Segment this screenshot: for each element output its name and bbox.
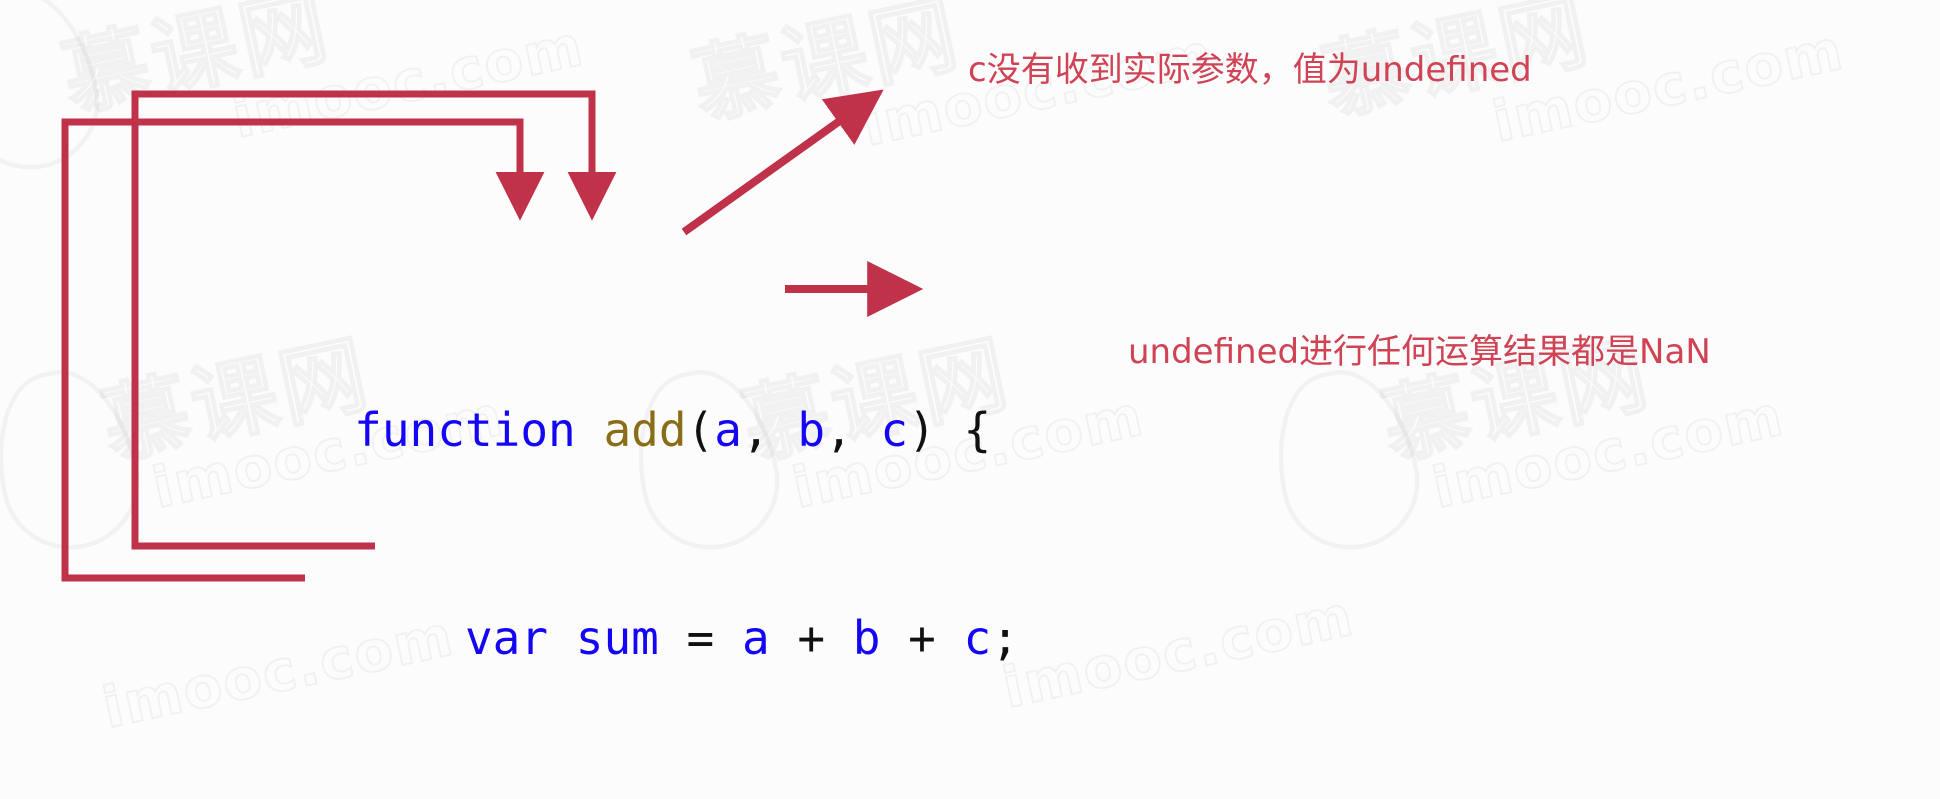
code-token-plus: + — [880, 611, 963, 665]
watermark-brand: 慕课网 — [680, 0, 970, 142]
code-token-space — [548, 611, 576, 665]
code-token-brace-open: ) { — [908, 403, 991, 457]
watermark-site: imooc.com — [1427, 384, 1790, 522]
code-token-assign: = — [659, 611, 742, 665]
watermark-flame-icon — [0, 358, 152, 563]
code-token-plus: + — [770, 611, 853, 665]
code-block: function add(a, b, c) { var sum = a + b … — [188, 196, 1366, 799]
watermark-site: imooc.com — [1487, 18, 1850, 156]
code-token-comma: , — [825, 403, 880, 457]
code-token-keyword: function — [354, 403, 576, 457]
slide-canvas: 慕课网 imooc.com 慕课网 imooc.com 慕课网 imooc.co… — [0, 0, 1940, 799]
code-token-b: b — [853, 611, 881, 665]
code-token-a: a — [742, 611, 770, 665]
code-token-var-sum: sum — [576, 611, 659, 665]
code-token-function-name: add — [603, 403, 686, 457]
watermark-brand: 慕课网 — [50, 0, 340, 134]
code-token-paren: ( — [687, 403, 715, 457]
code-token-param-c: c — [880, 403, 908, 457]
code-token-param-a: a — [714, 403, 742, 457]
watermark-brand: 慕课网 — [1370, 303, 1660, 481]
code-token-param-b: b — [797, 403, 825, 457]
watermark-flame-icon — [0, 0, 112, 182]
watermark-site: imooc.com — [857, 22, 1220, 160]
annotation-undefined-param: c没有收到实际参数，值为undefined — [968, 50, 1532, 90]
code-token-comma: , — [742, 403, 797, 457]
annotation-nan-result: undefined进行任何运算结果都是NaN — [1128, 332, 1711, 372]
code-token-c: c — [964, 611, 992, 665]
watermark-site: imooc.com — [227, 14, 590, 152]
code-line: var sum = a + b + c; — [188, 560, 1366, 612]
code-token-space — [576, 403, 604, 457]
code-line: console.log('三个数字的和是' + sum); — [188, 768, 1366, 799]
code-token-indent — [354, 611, 465, 665]
code-token-keyword: var — [465, 611, 548, 665]
code-token-semicolon: ; — [991, 611, 1019, 665]
